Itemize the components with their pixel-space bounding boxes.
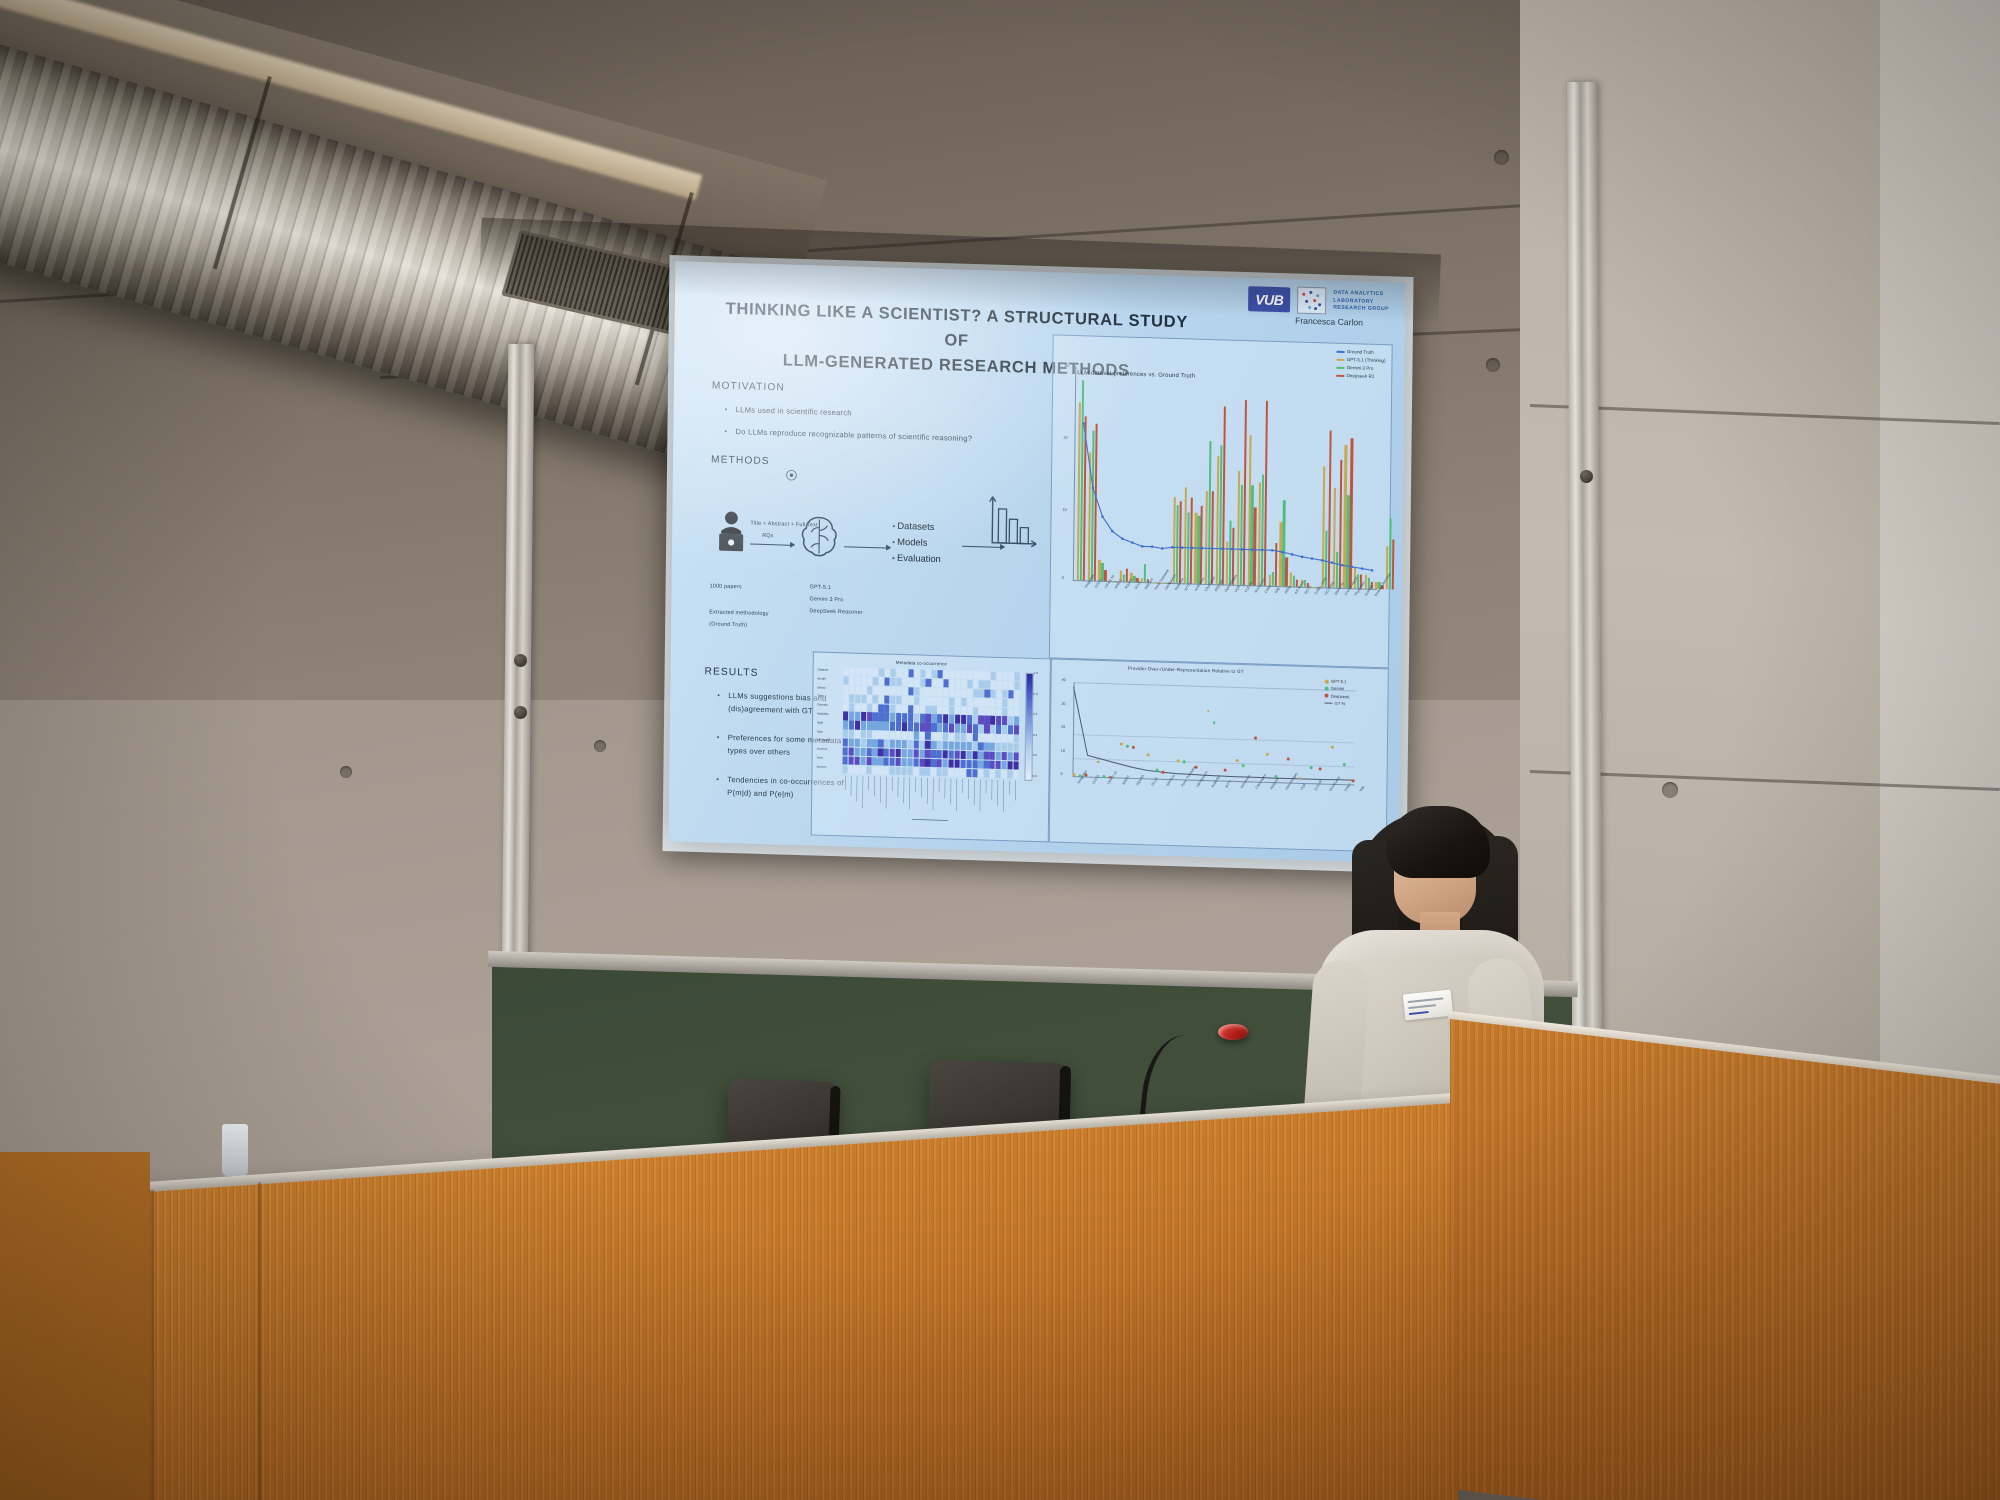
heatmap-cell — [937, 759, 942, 767]
heatmap-cell — [884, 713, 889, 721]
heatmap-cell — [943, 750, 948, 758]
heatmap-cell — [943, 733, 948, 741]
heatmap-cell — [842, 765, 847, 773]
heatmap-cell — [943, 759, 948, 767]
heatmap-cell — [861, 668, 866, 676]
legend-swatch — [1336, 351, 1344, 354]
heatmap-cell — [907, 767, 912, 775]
heatmap-cell — [997, 672, 1002, 680]
heatmap-cell — [843, 756, 848, 764]
heatmap-cell — [925, 750, 930, 758]
heatmap-cell — [1008, 708, 1013, 716]
heatmap-cell — [860, 757, 865, 765]
heatmap-cell — [896, 696, 901, 704]
scatter-panel: Provider Over-/Under-Representation Rela… — [1049, 658, 1389, 852]
heatmap-row-label: Dataset — [818, 668, 829, 672]
heatmap-cell — [1002, 734, 1007, 742]
heatmap-cell — [896, 678, 901, 686]
heatmap-cell — [866, 730, 871, 738]
heatmap-cell — [867, 668, 872, 676]
heatmap-cell — [932, 670, 937, 678]
scatter-point — [1147, 754, 1150, 757]
heatmap-cell — [955, 724, 960, 732]
heatmap-cell — [984, 743, 989, 751]
heatmap-cell — [843, 676, 848, 684]
heatmap-cell — [979, 671, 984, 679]
heatmap-cell — [990, 716, 995, 724]
scatter-point — [1096, 760, 1099, 763]
heatmap-cell — [878, 713, 883, 721]
heatmap-cell — [926, 705, 931, 713]
y-tick: 20 — [1061, 725, 1065, 729]
heatmap-cell — [967, 715, 972, 723]
heatmap-cell — [926, 688, 931, 696]
heatmap-cell — [955, 733, 960, 741]
heatmap-cell — [890, 767, 895, 775]
heatmap-cell — [955, 671, 960, 679]
heatmap-cell — [990, 725, 995, 733]
methods-input-sub-2: (Ground Truth) — [709, 620, 747, 630]
methods-input-sub-1: Extracted methodology — [709, 608, 768, 618]
heatmap-row-label: Year — [817, 756, 823, 760]
scatter-point — [1266, 752, 1269, 755]
heatmap-cell — [885, 677, 890, 685]
heatmap-cell — [979, 698, 984, 706]
heatmap-cell — [978, 734, 983, 742]
heatmap-cell — [896, 740, 901, 748]
heatmap-cell — [960, 760, 965, 768]
wall-anchor-dot — [1486, 358, 1500, 372]
heatmap-cell — [967, 680, 972, 688]
heatmap-cell — [884, 757, 889, 765]
heatmap-cell — [984, 769, 989, 777]
scatter-point — [1213, 721, 1216, 724]
heatmap-cell — [873, 668, 878, 676]
output-models: Models — [892, 534, 941, 551]
scatter-point — [1352, 779, 1355, 782]
heatmap-cell — [1014, 690, 1019, 698]
heatmap-cell — [902, 705, 907, 713]
wall-anchor-dot — [340, 766, 352, 778]
x-tick: Yelp — [1274, 586, 1281, 594]
heatmap-cell — [855, 730, 860, 738]
heatmap-cell — [855, 668, 860, 676]
heatmap-cell — [961, 724, 966, 732]
legend-swatch — [1336, 359, 1344, 362]
heatmap-cell — [932, 679, 937, 687]
heatmap-cell — [908, 740, 913, 748]
heatmap-cell — [855, 677, 860, 685]
heatmap-cell — [902, 687, 907, 695]
heatmap-cell — [872, 757, 877, 765]
heatmap-cell — [896, 687, 901, 695]
heatmap-cell — [931, 768, 936, 776]
motivation-bullet-1: LLMs used in scientific research — [736, 403, 936, 422]
heatmap-cell — [873, 677, 878, 685]
wall-anchor-dot — [1494, 150, 1509, 165]
heatmap-cell — [1002, 752, 1007, 760]
heatmap-cell — [919, 759, 924, 767]
heatmap-cell — [855, 703, 860, 711]
heatmap-row-label: Size — [817, 729, 823, 733]
heatmap-cell — [949, 679, 954, 687]
heatmap-cell — [849, 703, 854, 711]
heatmap-cell — [1008, 672, 1013, 680]
heatmap-cell — [949, 706, 954, 714]
bar-chart-y-axis — [1073, 366, 1076, 580]
heatmap-cell — [902, 731, 907, 739]
heatmap-cell — [890, 758, 895, 766]
heatmap-cell — [1002, 743, 1007, 751]
scatter-point — [1126, 744, 1129, 747]
heatmap-cell — [855, 685, 860, 693]
heatmap-cell — [972, 742, 977, 750]
bar-chart-icon — [984, 492, 1039, 550]
heatmap-cell — [966, 742, 971, 750]
heatmap-grid — [842, 667, 1019, 778]
heatmap-cell — [996, 770, 1001, 778]
scatter-title: Provider Over-/Under-Representation Rela… — [1128, 666, 1244, 674]
heatmap-cell — [860, 739, 865, 747]
heatmap-cell — [878, 766, 883, 774]
legend-swatch — [1336, 367, 1344, 370]
heatmap-cell — [949, 688, 954, 696]
y-tick: 20 — [1063, 436, 1067, 440]
scatter-point — [1162, 771, 1165, 774]
scatter-point — [1286, 757, 1289, 760]
heatmap-cell — [1008, 681, 1013, 689]
scatter-point — [1177, 759, 1180, 762]
heatmap-cell — [884, 704, 889, 712]
heatmap-cell — [973, 707, 978, 715]
y-tick: 0 — [1060, 772, 1062, 776]
wall-anchor-dot — [1662, 782, 1678, 798]
heatmap-cell — [1007, 761, 1012, 769]
heatmap-cell — [949, 733, 954, 741]
heatmap-cell — [914, 705, 919, 713]
heatmap-cell — [996, 725, 1001, 733]
heatmap-cell — [966, 769, 971, 777]
heatmap-cell — [902, 714, 907, 722]
heatmap-cell — [908, 723, 913, 731]
heatmap-cell — [873, 713, 878, 721]
heatmap-cell — [996, 761, 1001, 769]
heatmap-cell — [920, 670, 925, 678]
heatmap-cell — [990, 734, 995, 742]
y-tick: 30 — [1064, 364, 1068, 368]
heatmap-cell — [885, 669, 890, 677]
heatmap-cell — [979, 689, 984, 697]
scatter-point — [1242, 764, 1245, 767]
heatmap-cell — [954, 760, 959, 768]
heatmap-cell — [943, 688, 948, 696]
heatmap-cell — [890, 749, 895, 757]
heatmap-cell — [985, 689, 990, 697]
ground-truth-line — [1077, 366, 1380, 589]
heatmap-cell — [1008, 690, 1013, 698]
heatmap-cell — [896, 731, 901, 739]
heatmap-cell — [955, 751, 960, 759]
heatmap-cell — [896, 749, 901, 757]
heatmap-cell — [955, 706, 960, 714]
heatmap-cell — [879, 668, 884, 676]
heatmap-title: Metadata co-occurrence — [896, 660, 947, 667]
heatmap-cell — [1008, 734, 1013, 742]
heatmap-cell — [955, 697, 960, 705]
heatmap-cell — [878, 748, 883, 756]
heatmap-cell — [996, 734, 1001, 742]
heatmap-cell — [960, 751, 965, 759]
heatmap-cell — [907, 749, 912, 757]
heatmap-cell — [861, 686, 866, 694]
heatmap-cell — [854, 748, 859, 756]
colorbar-tick: 0.4 — [1033, 732, 1037, 736]
heatmap-cell — [1014, 708, 1019, 716]
results-heading: RESULTS — [705, 666, 759, 679]
heatmap-cell — [919, 732, 924, 740]
heatmap-cell — [873, 695, 878, 703]
heatmap-cell — [1002, 761, 1007, 769]
heatmap-cell — [914, 696, 919, 704]
heatmap-cell — [1014, 681, 1019, 689]
heatmap-cell — [1002, 725, 1007, 733]
heatmap-cell — [919, 767, 924, 775]
heatmap-cell — [926, 714, 931, 722]
heatmap-cell — [961, 742, 966, 750]
heatmap-cell — [860, 766, 865, 774]
rail-bolt — [514, 654, 527, 667]
heatmap-cell — [926, 696, 931, 704]
y-tick: 10 — [1061, 748, 1065, 752]
x-tick: VQA — [1234, 585, 1241, 593]
heatmap-cell — [937, 706, 942, 714]
heatmap-cell — [1008, 699, 1013, 707]
heatmap-cell — [884, 766, 889, 774]
heatmap-cell — [914, 714, 919, 722]
heatmap-cell — [890, 713, 895, 721]
heatmap-cell — [943, 715, 948, 723]
heatmap-cell — [867, 704, 872, 712]
brand-block: VUB DATA ANALYTICS LABORATORY RESEARCH G… — [1248, 285, 1389, 316]
heatmap-cell — [878, 731, 883, 739]
heatmap-cell — [854, 757, 859, 765]
heatmap-cell — [920, 723, 925, 731]
water-bottle — [222, 1124, 248, 1176]
heatmap-cell — [931, 741, 936, 749]
heatmap-cell — [884, 695, 889, 703]
heatmap-cell — [925, 741, 930, 749]
heatmap-cell — [1014, 743, 1019, 751]
heatmap-cell — [954, 768, 959, 776]
heatmap-cell — [937, 741, 942, 749]
y-tick: 30 — [1061, 701, 1065, 705]
heatmap-cell — [843, 694, 848, 702]
heatmap-cell — [879, 677, 884, 685]
heatmap-cell — [949, 715, 954, 723]
heatmap-row-label: Licence — [817, 747, 828, 751]
heatmap-cell — [949, 742, 954, 750]
heatmap-cell — [931, 714, 936, 722]
heatmap-cell — [943, 768, 948, 776]
papers-person-icon — [716, 509, 747, 554]
heatmap-cell — [1007, 770, 1012, 778]
heatmap-cell — [849, 694, 854, 702]
heatmap-cell — [991, 698, 996, 706]
heatmap-cell — [902, 669, 907, 677]
heatmap-cell — [908, 669, 913, 677]
heatmap-cell — [843, 712, 848, 720]
heatmap-cell — [984, 716, 989, 724]
bar-chart-panel: LLM dataset preferences vs. Ground Truth… — [1049, 334, 1393, 668]
heatmap-cell — [949, 750, 954, 758]
heatmap-cell — [907, 758, 912, 766]
heatmap-cell — [967, 733, 972, 741]
heatmap-cell — [1014, 672, 1019, 680]
heatmap-cell — [967, 698, 972, 706]
heatmap-cell — [843, 721, 848, 729]
heatmap-cell — [1013, 770, 1018, 778]
scatter-point — [1224, 768, 1227, 771]
heatmap-cell — [1008, 752, 1013, 760]
scatter-point — [1183, 761, 1186, 764]
heatmap-cell — [932, 688, 937, 696]
heatmap-cell — [861, 712, 866, 720]
heatmap-cell — [943, 697, 948, 705]
heatmap-cell — [931, 732, 936, 740]
heatmap-cell — [843, 747, 848, 755]
projection-screen[interactable]: VUB DATA ANALYTICS LABORATORY RESEARCH G… — [669, 261, 1406, 863]
heatmap-cell — [938, 688, 943, 696]
heatmap-cell — [914, 669, 919, 677]
heatmap-cell — [973, 671, 978, 679]
heatmap-cell — [896, 713, 901, 721]
flow-arrow-1 — [750, 544, 794, 546]
heatmap-cell — [867, 721, 872, 729]
heatmap-cell — [849, 739, 854, 747]
heatmap-cell — [920, 687, 925, 695]
heatmap-cell — [932, 697, 937, 705]
heatmap-cell — [937, 732, 942, 740]
heatmap-cell — [890, 722, 895, 730]
heatmap-cell — [890, 687, 895, 695]
heatmap-cell — [944, 670, 949, 678]
heatmap-cell — [979, 716, 984, 724]
heatmap-cell — [966, 760, 971, 768]
heatmap-cell — [878, 740, 883, 748]
heatmap-cell — [960, 769, 965, 777]
heatmap-cell — [914, 687, 919, 695]
heatmap-cell — [961, 680, 966, 688]
table-microphone-head[interactable] — [1218, 1024, 1248, 1040]
heatmap-cell — [972, 760, 977, 768]
methods-output-list: Datasets Models Evaluation — [892, 518, 941, 567]
heatmap-cell — [844, 667, 849, 675]
heatmap-cell — [901, 767, 906, 775]
scatter-point — [1298, 777, 1301, 780]
heatmap-cell — [902, 722, 907, 730]
heatmap-cell — [878, 722, 883, 730]
heatmap-cell — [925, 732, 930, 740]
heatmap-cell — [920, 696, 925, 704]
gear-icon — [785, 469, 798, 482]
heatmap-cell — [996, 707, 1001, 715]
dal-logo-text: DATA ANALYTICS LABORATORY RESEARCH GROUP — [1333, 290, 1389, 314]
heatmap-cell — [867, 686, 872, 694]
heatmap-cell — [919, 750, 924, 758]
heatmap-cell — [849, 730, 854, 738]
heatmap-cell — [1014, 735, 1019, 743]
heatmap-cell — [985, 698, 990, 706]
heatmap-cell — [860, 748, 865, 756]
heatmap-cell — [872, 722, 877, 730]
heatmap-cell — [867, 677, 872, 685]
heatmap-cell — [843, 685, 848, 693]
scatter-point — [1072, 773, 1075, 776]
heatmap-cell — [855, 721, 860, 729]
heatmap-cell — [943, 724, 948, 732]
motivation-bullet-2: Do LLMs reproduce recognizable patterns … — [735, 425, 1085, 449]
heatmap-cell — [955, 715, 960, 723]
heatmap-cell — [885, 686, 890, 694]
heatmap-cell — [978, 769, 983, 777]
heatmap-row-label: Language — [817, 738, 831, 742]
heatmap-row-label: Modality — [817, 712, 829, 716]
heatmap-cell — [943, 741, 948, 749]
heatmap-cell — [855, 739, 860, 747]
scatter-point — [1319, 767, 1322, 770]
heatmap-cell — [908, 678, 913, 686]
heatmap-cell — [985, 672, 990, 680]
heatmap-cell — [897, 669, 902, 677]
colorbar-tick: 0.2 — [1033, 753, 1037, 757]
heatmap-cell — [931, 750, 936, 758]
heatmap-cell — [961, 689, 966, 697]
heatmap-cell — [1002, 699, 1007, 707]
heatmap-cell — [848, 756, 853, 764]
heatmap-cell — [896, 704, 901, 712]
y-tick: 10 — [1063, 508, 1067, 512]
y-tick: 0 — [1062, 576, 1064, 580]
heatmap-cell — [891, 669, 896, 677]
heatmap-cell — [848, 765, 853, 773]
heatmap-cell — [920, 678, 925, 686]
heatmap-cell — [973, 698, 978, 706]
scatter-point — [1120, 742, 1123, 745]
scatter-point — [1236, 759, 1239, 762]
heatmap-cell — [1003, 672, 1008, 680]
colorbar-tick: 0.6 — [1033, 712, 1037, 716]
podium-left-return — [0, 1152, 150, 1500]
heatmap-cell — [879, 704, 884, 712]
heatmap-cell — [997, 681, 1002, 689]
podium-groove — [258, 1182, 261, 1500]
methods-flow-diagram: Title + Abstract + Full Text RQs Dataset… — [710, 458, 1032, 595]
heatmap-cell — [967, 724, 972, 732]
heatmap-cell — [908, 705, 913, 713]
scatter-point — [1254, 737, 1257, 740]
methods-input-count: 1000 papers — [710, 582, 742, 592]
dal-logo-mark — [1297, 287, 1326, 315]
heatmap-cell — [978, 725, 983, 733]
legend-swatch — [1324, 679, 1328, 683]
heatmap-cell — [914, 678, 919, 686]
colorbar-tick: 0.8 — [1033, 691, 1037, 695]
heatmap-cell — [937, 723, 942, 731]
heatmap-cell — [926, 679, 931, 687]
heatmap-cell — [984, 760, 989, 768]
heatmap-cell — [913, 741, 918, 749]
heatmap-cell — [890, 731, 895, 739]
